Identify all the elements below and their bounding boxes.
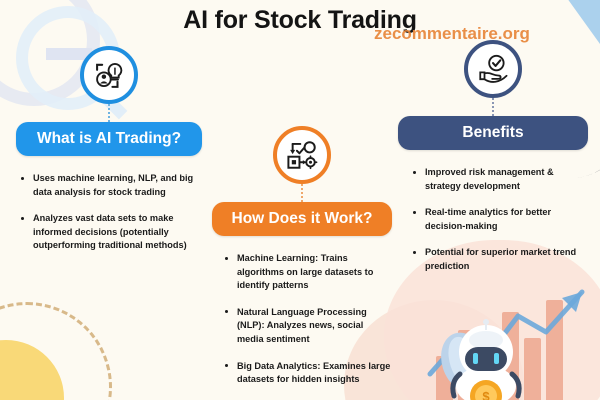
section-benefits: Benefits Improved risk management & stra… [398,40,588,287]
connector-left [108,104,110,122]
heading-how-does-it-work: How Does it Work? [212,202,392,236]
list-item: Uses machine learning, NLP, and big data… [20,172,202,199]
list-item: Real-time analytics for better decision-… [412,206,588,233]
list-item: Natural Language Processing (NLP): Analy… [224,306,392,347]
site-watermark: zecommentaire.org [374,24,530,44]
badge-wrap-left [16,46,202,104]
hand-check-icon [464,40,522,98]
robot-holding-coin-icon: $ [434,300,538,400]
list-item: Potential for superior market trend pred… [412,246,588,273]
connector-mid [301,184,303,202]
tan-dashed-arc [0,302,112,400]
list-item: Big Data Analytics: Examines large datas… [224,360,392,387]
heading-benefits: Benefits [398,116,588,150]
bullet-list-how-does-it-work: Machine Learning: Trains algorithms on l… [212,252,392,387]
list-item: Analyzes vast data sets to make informed… [20,212,202,253]
person-lightbulb-icon [80,46,138,104]
list-item: Improved risk management & strategy deve… [412,166,588,193]
workflow-gear-icon [273,126,331,184]
svg-text:$: $ [482,389,490,400]
yellow-circle [0,340,64,400]
bullet-list-what-is-ai-trading: Uses machine learning, NLP, and big data… [16,172,202,253]
connector-right [492,98,494,116]
blue-rising-trend-line [426,282,596,392]
heading-what-is-ai-trading: What is AI Trading? [16,122,202,156]
section-how-does-it-work: How Does it Work? Machine Learning: Trai… [212,126,392,400]
list-item: Machine Learning: Trains algorithms on l… [224,252,392,293]
bullet-list-benefits: Improved risk management & strategy deve… [398,166,588,274]
orange-bar-chart [434,296,584,400]
badge-wrap-right [398,40,588,98]
section-what-is-ai-trading: What is AI Trading? Uses machine learnin… [16,46,202,266]
badge-wrap-mid [212,126,392,184]
